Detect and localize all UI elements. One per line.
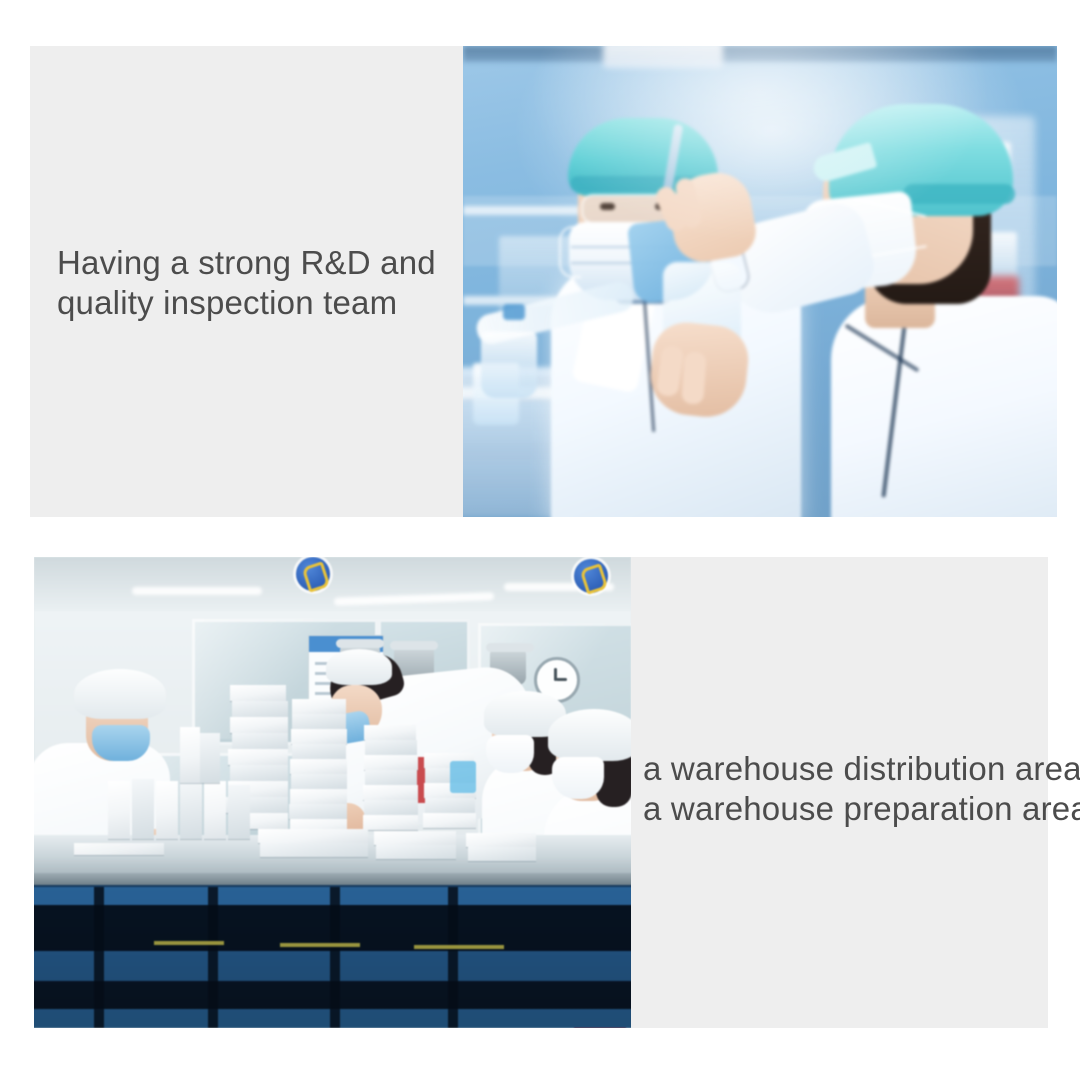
blue-circular-sign [296, 557, 330, 591]
warehouse-packing-photo [34, 557, 631, 1028]
caption-line: quality inspection team [57, 283, 436, 323]
blue-circular-sign [574, 559, 608, 593]
caption-line: a warehouse preparation area [643, 789, 1043, 829]
image-canvas: Having a strong R&D and quality inspecti… [0, 0, 1080, 1080]
warehouse-caption: a warehouse distribution area a warehous… [643, 749, 1043, 829]
laboratory-inspection-photo [463, 46, 1057, 517]
caption-line: a warehouse distribution area [643, 749, 1043, 789]
caption-line: Having a strong R&D and [57, 243, 436, 283]
rd-quality-caption: Having a strong R&D and quality inspecti… [57, 243, 436, 323]
